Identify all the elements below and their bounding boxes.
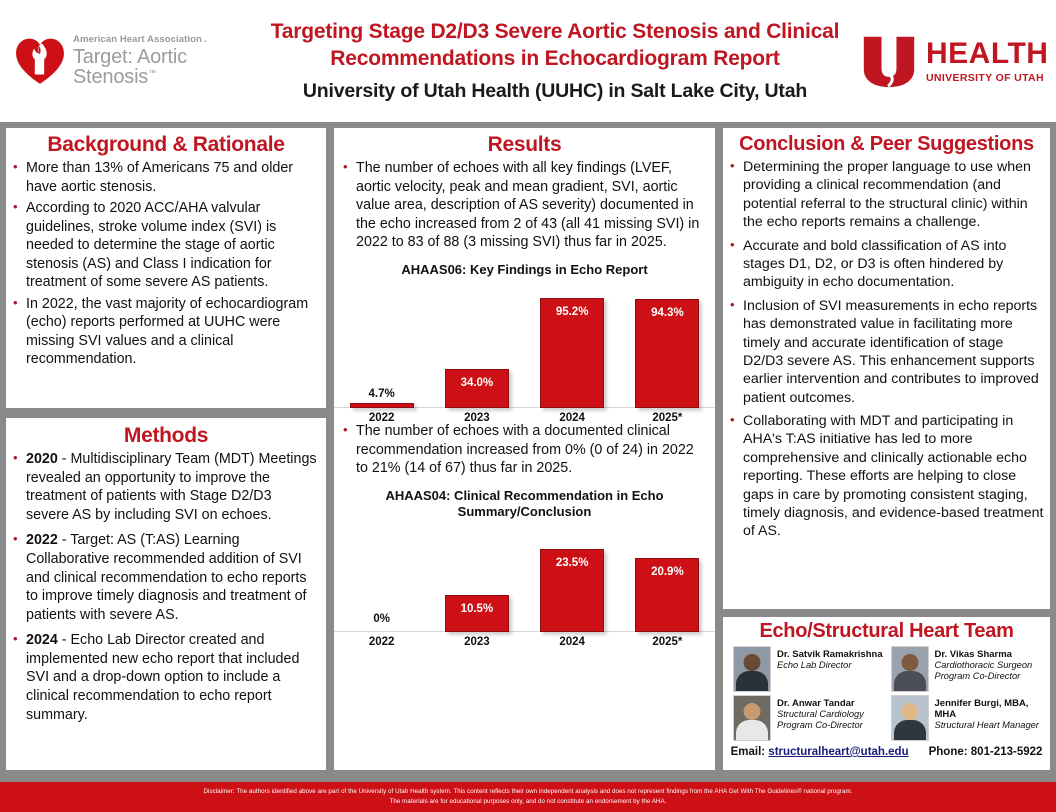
method-year: 2024 <box>26 632 58 648</box>
list-item: Determining the proper language to use w… <box>727 158 1044 232</box>
member-role: Structural Cardiology Program Co-Directo… <box>777 709 864 731</box>
chart-x-tick-label: 2025* <box>620 636 715 648</box>
avatar <box>733 695 771 741</box>
member-role: Structural Heart Manager <box>935 720 1043 731</box>
title-block: Targeting Stage D2/D3 Severe Aortic Sten… <box>250 19 860 104</box>
results-bullet-list-2: The number of echoes with a documented c… <box>334 422 715 478</box>
list-item: 2022 - Target: AS (T:AS) Learning Collab… <box>10 531 318 624</box>
conclusion-bullet-list: Determining the proper language to use w… <box>723 158 1050 541</box>
section-results: Results The number of echoes with all ke… <box>334 128 715 770</box>
chart-bar-value-label: 4.7% <box>344 388 420 400</box>
avatar <box>733 646 771 692</box>
member-role: Echo Lab Director <box>777 660 883 671</box>
u-of-u-block-u-icon <box>860 33 918 89</box>
email-block: Email: structuralheart@utah.edu <box>731 746 909 758</box>
avatar <box>891 646 929 692</box>
chart-bar-value-label: 20.9% <box>629 566 705 578</box>
section-background-rationale: Background & Rationale More than 13% of … <box>6 128 326 408</box>
list-item: 2024 - Echo Lab Director created and imp… <box>10 631 318 724</box>
poster-root: American Heart Association . Target: Aor… <box>0 0 1056 812</box>
member-role: Cardiothoracic Surgeon Program Co-Direct… <box>935 660 1033 682</box>
method-text: - Target: AS (T:AS) Learning Collaborati… <box>26 532 307 622</box>
section-title-methods: Methods <box>6 418 326 450</box>
background-bullet-list: More than 13% of Americans 75 and older … <box>6 159 326 369</box>
aha-org-name: American Heart Association . <box>73 35 250 45</box>
chart-bar-value-label: 23.5% <box>534 557 610 569</box>
chart-title-ahaas06: AHAAS06: Key Findings in Echo Report <box>334 262 715 278</box>
team-contact-row: Email: structuralheart@utah.edu Phone: 8… <box>723 746 1050 758</box>
chart-bar-value-label: 34.0% <box>439 377 515 389</box>
section-title-results: Results <box>334 128 715 159</box>
member-name: Dr. Vikas Sharma <box>935 649 1033 660</box>
list-item: The number of echoes with a documented c… <box>340 422 705 478</box>
member-name: Jennifer Burgi, MBA, MHA <box>935 698 1043 720</box>
avatar <box>891 695 929 741</box>
poster-footer-disclaimer: Disclaimer: The authors identified above… <box>0 782 1056 812</box>
team-member: Dr. Vikas Sharma Cardiothoracic Surgeon … <box>891 646 1043 692</box>
list-item: According to 2020 ACC/AHA valvular guide… <box>10 199 316 292</box>
member-name: Dr. Anwar Tandar <box>777 698 864 709</box>
team-member: Dr. Anwar Tandar Structural Cardiology P… <box>733 695 885 741</box>
results-bullet-list-1: The number of echoes with all key findin… <box>334 159 715 252</box>
list-item: Accurate and bold classification of AS i… <box>727 237 1044 292</box>
chart-bar-value-label: 10.5% <box>439 603 515 615</box>
chart-x-tick-label: 2023 <box>429 636 524 648</box>
chart-bar <box>350 403 414 408</box>
phone-label: Phone: <box>929 746 968 758</box>
disclaimer-line-2: The materials are for educational purpos… <box>40 797 1016 807</box>
chart-bar-value-label: 95.2% <box>534 306 610 318</box>
poster-header: American Heart Association . Target: Aor… <box>0 0 1056 122</box>
list-item: More than 13% of Americans 75 and older … <box>10 159 316 196</box>
section-title-team: Echo/Structural Heart Team <box>723 617 1050 644</box>
phone-block: Phone: 801-213-5922 <box>929 746 1043 758</box>
aha-heart-torch-icon <box>14 36 66 86</box>
list-item: 2020 - Multidisciplinary Team (MDT) Meet… <box>10 450 318 524</box>
section-methods: Methods 2020 - Multidisciplinary Team (M… <box>6 418 326 770</box>
team-member-grid: Dr. Satvik Ramakrishna Echo Lab Director… <box>723 644 1050 741</box>
methods-bullet-list: 2020 - Multidisciplinary Team (MDT) Meet… <box>6 450 326 724</box>
phone-number: 801-213-5922 <box>971 746 1043 758</box>
team-member: Dr. Satvik Ramakrishna Echo Lab Director <box>733 646 885 692</box>
section-echo-structural-heart-team: Echo/Structural Heart Team Dr. Satvik Ra… <box>723 617 1050 770</box>
chart-bar-value-label: 0% <box>344 613 420 625</box>
aha-program-name: Target: Aortic Stenosis™ <box>73 47 250 87</box>
bar-chart-ahaas04: 0%202210.5%202323.5%202420.9%2025* <box>334 520 715 632</box>
list-item: Inclusion of SVI measurements in echo re… <box>727 297 1044 407</box>
section-title-conclusion: Conclusion & Peer Suggestions <box>723 128 1050 158</box>
email-label: Email: <box>731 746 766 758</box>
chart-x-tick-label: 2022 <box>334 636 429 648</box>
email-link[interactable]: structuralheart@utah.edu <box>768 746 908 758</box>
aha-target-aortic-stenosis-logo: American Heart Association . Target: Aor… <box>0 35 250 88</box>
list-item: The number of echoes with all key findin… <box>340 159 705 252</box>
chart-x-tick-label: 2024 <box>525 636 620 648</box>
list-item: Collaborating with MDT and participating… <box>727 412 1044 541</box>
section-conclusion-peer-suggestions: Conclusion & Peer Suggestions Determinin… <box>723 128 1050 609</box>
member-name: Dr. Satvik Ramakrishna <box>777 649 883 660</box>
chart-title-ahaas04: AHAAS04: Clinical Recommendation in Echo… <box>334 488 715 520</box>
method-text: - Echo Lab Director created and implemen… <box>26 632 299 722</box>
uofu-health-wordmark: HEALTH <box>926 39 1048 69</box>
method-year: 2022 <box>26 532 58 548</box>
poster-title: Targeting Stage D2/D3 Severe Aortic Sten… <box>254 19 856 73</box>
chart-bar-value-label: 94.3% <box>629 307 705 319</box>
poster-body: Background & Rationale More than 13% of … <box>0 122 1056 782</box>
method-year: 2020 <box>26 451 58 467</box>
method-text: - Multidisciplinary Team (MDT) Meetings … <box>26 451 317 523</box>
list-item: In 2022, the vast majority of echocardio… <box>10 295 316 369</box>
team-member: Jennifer Burgi, MBA, MHA Structural Hear… <box>891 695 1043 741</box>
uofu-subtitle: UNIVERSITY OF UTAH <box>926 73 1048 84</box>
poster-subtitle: University of Utah Health (UUHC) in Salt… <box>254 80 856 103</box>
bar-chart-ahaas06: 4.7%202234.0%202395.2%202494.3%2025* <box>334 278 715 408</box>
trademark-mark: ™ <box>148 69 156 78</box>
disclaimer-line-1: Disclaimer: The authors identified above… <box>40 787 1016 797</box>
university-of-utah-health-logo: HEALTH UNIVERSITY OF UTAH <box>860 33 1056 89</box>
section-title-background: Background & Rationale <box>6 128 326 159</box>
